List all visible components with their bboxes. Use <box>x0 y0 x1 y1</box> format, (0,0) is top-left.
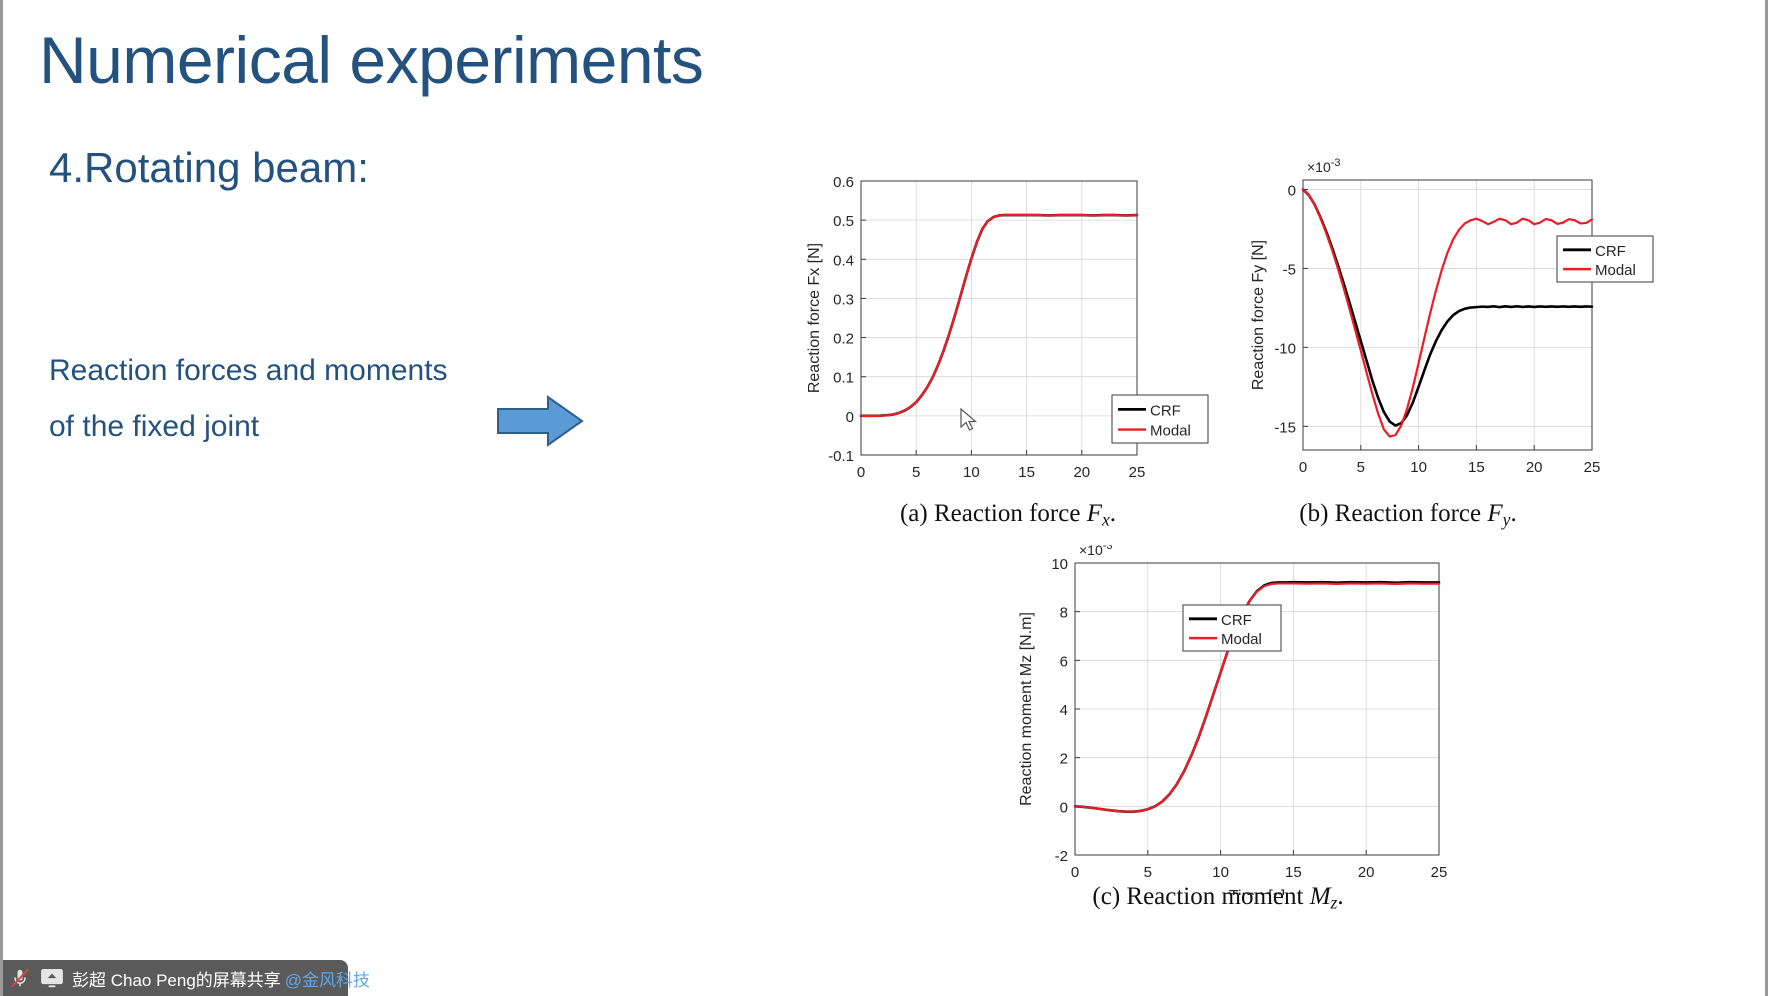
chart-reaction-force-fx: -0.100.10.20.30.40.50.60510152025Time [s… <box>803 150 1243 480</box>
svg-text:25: 25 <box>1129 464 1146 480</box>
svg-text:10: 10 <box>1410 459 1427 476</box>
svg-text:×10-3: ×10-3 <box>1079 545 1113 558</box>
svg-text:0.6: 0.6 <box>833 174 854 191</box>
svg-text:0: 0 <box>846 409 854 426</box>
svg-text:Reaction moment Mz [N.m]: Reaction moment Mz [N.m] <box>1018 612 1035 806</box>
svg-text:0.2: 0.2 <box>833 331 854 348</box>
svg-text:0: 0 <box>857 464 865 480</box>
screenshare-handle: @金风科技 <box>285 966 370 991</box>
svg-text:10: 10 <box>963 464 980 480</box>
screenshare-taskbar[interactable]: 彭超 Chao Peng的屏幕共享 @金风科技 <box>3 960 348 996</box>
svg-text:-15: -15 <box>1274 419 1296 436</box>
svg-text:Modal: Modal <box>1221 631 1262 648</box>
svg-text:25: 25 <box>1431 864 1448 881</box>
svg-text:5: 5 <box>1357 459 1365 476</box>
screenshare-label: 彭超 Chao Peng的屏幕共享 <box>72 966 281 991</box>
svg-text:0.5: 0.5 <box>833 213 854 230</box>
svg-text:15: 15 <box>1285 864 1302 881</box>
svg-text:15: 15 <box>1018 464 1035 480</box>
svg-text:Modal: Modal <box>1595 262 1636 279</box>
svg-text:0: 0 <box>1299 459 1307 476</box>
svg-text:2: 2 <box>1060 751 1068 768</box>
svg-text:0.3: 0.3 <box>833 291 854 308</box>
mouse-pointer-icon <box>960 408 980 434</box>
svg-text:6: 6 <box>1060 653 1068 670</box>
body-text-line-1: Reaction forces and moments <box>49 354 448 388</box>
svg-text:0.4: 0.4 <box>833 252 854 269</box>
svg-text:CRF: CRF <box>1595 243 1626 260</box>
svg-text:5: 5 <box>1144 864 1152 881</box>
svg-text:0: 0 <box>1288 182 1296 199</box>
svg-text:-5: -5 <box>1283 261 1296 278</box>
section-subtitle: 4.Rotating beam: <box>49 144 369 192</box>
svg-text:0: 0 <box>1060 799 1068 816</box>
svg-text:8: 8 <box>1060 605 1068 622</box>
caption-figure-a: (a) Reaction force Fx. <box>793 500 1223 530</box>
svg-text:5: 5 <box>912 464 920 480</box>
svg-text:15: 15 <box>1468 459 1485 476</box>
svg-text:Reaction force Fy [N]: Reaction force Fy [N] <box>1250 240 1267 390</box>
slide-canvas: Numerical experiments 4.Rotating beam: R… <box>0 0 1768 996</box>
svg-text:-10: -10 <box>1274 340 1296 357</box>
right-arrow-icon <box>496 393 584 449</box>
chart-reaction-moment-mz: -202468100510152025×10-3Time [s]Reaction… <box>1003 545 1463 895</box>
svg-text:×10-3: ×10-3 <box>1307 157 1341 175</box>
svg-text:20: 20 <box>1526 459 1543 476</box>
microphone-muted-icon[interactable] <box>9 967 31 989</box>
svg-text:0: 0 <box>1071 864 1079 881</box>
caption-figure-c: (c) Reaction moment Mz. <box>993 883 1443 913</box>
figure-a: -0.100.10.20.30.40.50.60510152025Time [s… <box>803 150 1243 480</box>
svg-text:-0.1: -0.1 <box>828 448 854 465</box>
svg-text:Reaction force Fx [N]: Reaction force Fx [N] <box>806 243 823 393</box>
page-title: Numerical experiments <box>39 26 703 95</box>
svg-text:CRF: CRF <box>1150 402 1181 419</box>
figure-c: -202468100510152025×10-3Time [s]Reaction… <box>1003 545 1463 895</box>
caption-figure-b: (b) Reaction force Fy. <box>1193 500 1623 530</box>
svg-text:-2: -2 <box>1055 848 1068 865</box>
svg-text:Modal: Modal <box>1150 423 1191 440</box>
figure-b: 0-5-10-150510152025×10-3Time [s]Reaction… <box>1243 140 1683 480</box>
svg-text:20: 20 <box>1073 464 1090 480</box>
svg-text:CRF: CRF <box>1221 612 1252 629</box>
body-text-line-2: of the fixed joint <box>49 410 259 444</box>
svg-text:20: 20 <box>1358 864 1375 881</box>
svg-text:10: 10 <box>1051 556 1068 573</box>
svg-text:4: 4 <box>1060 702 1068 719</box>
svg-text:10: 10 <box>1212 864 1229 881</box>
screen-share-icon[interactable] <box>40 967 64 989</box>
chart-reaction-force-fy: 0-5-10-150510152025×10-3Time [s]Reaction… <box>1243 140 1683 480</box>
svg-text:25: 25 <box>1584 459 1601 476</box>
svg-text:0.1: 0.1 <box>833 370 854 387</box>
